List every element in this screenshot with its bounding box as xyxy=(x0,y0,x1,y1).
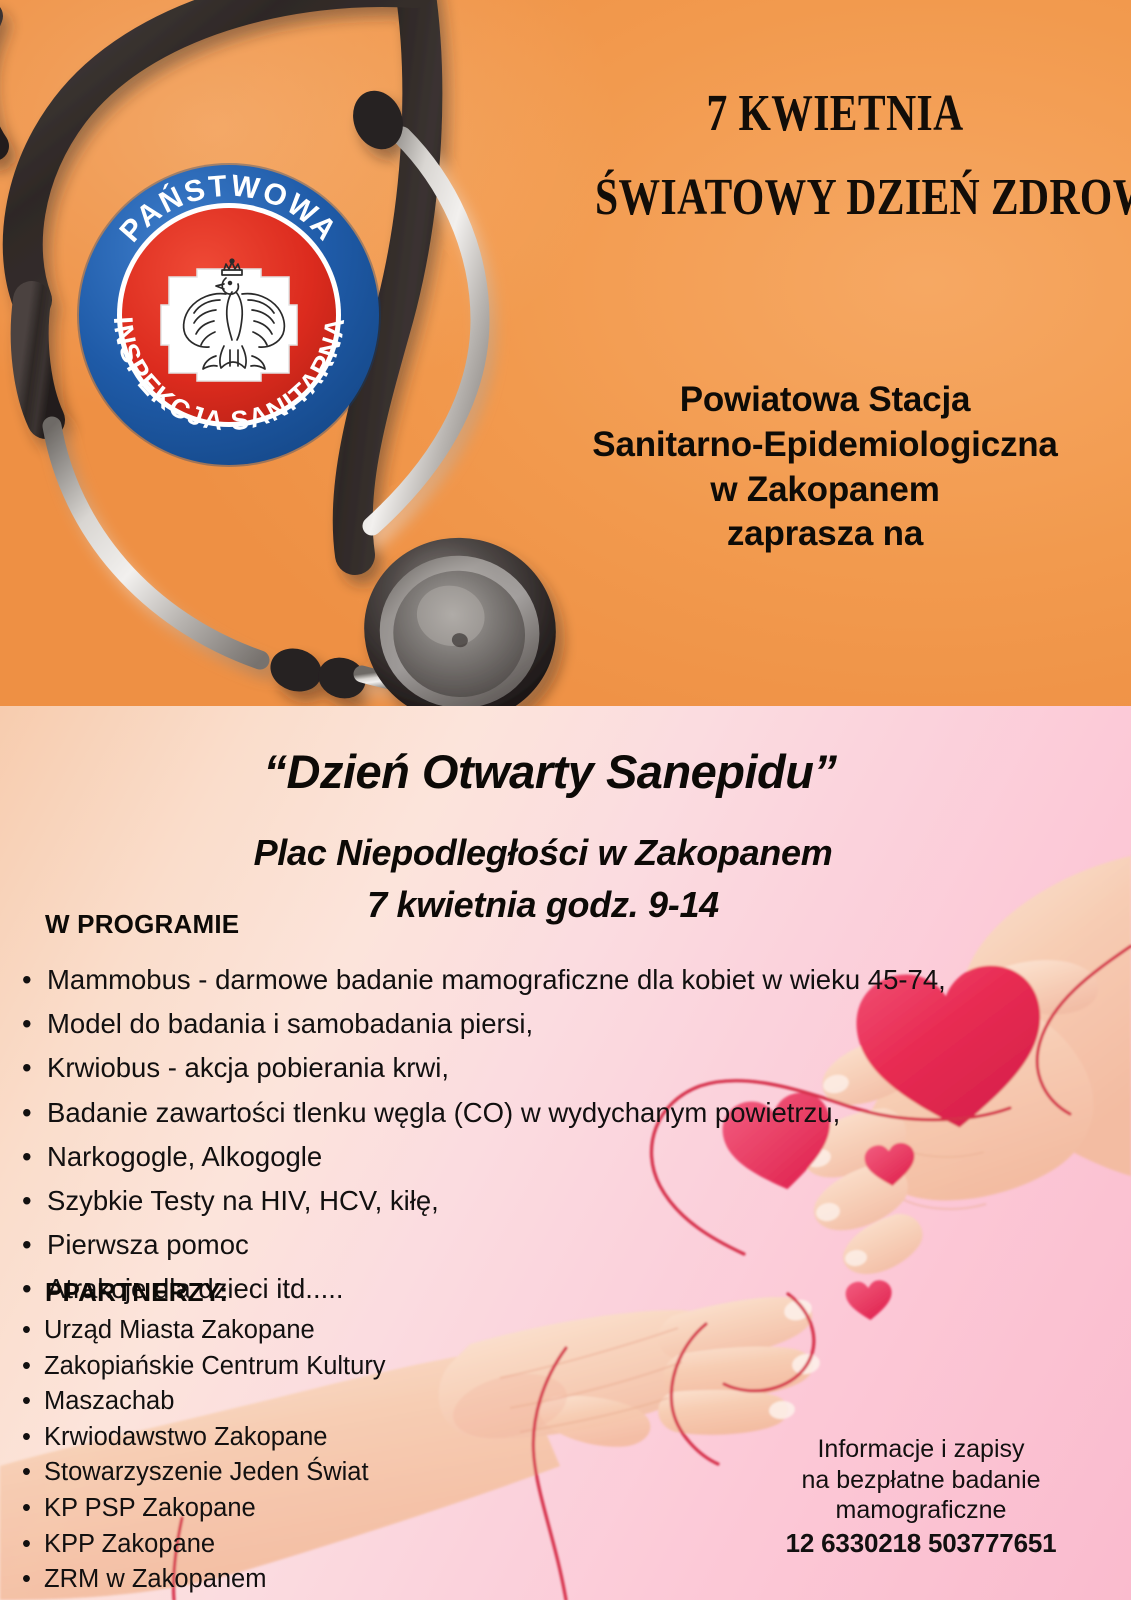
panstwowa-inspekcja-sanitarna-logo: PAŃSTWOWA INSPEKCJA SANITARNA xyxy=(74,160,384,470)
list-item: Krwiobus - akcja pobierania krwi, xyxy=(22,1046,946,1090)
list-item: Maszachab xyxy=(22,1384,386,1420)
list-item: Badanie zawartości tlenku węgla (CO) w w… xyxy=(22,1091,946,1135)
contact-line-1: Informacje i zapisy xyxy=(756,1434,1086,1465)
world-health-day-date: 7 KWIETNIA xyxy=(627,84,1043,143)
list-item: Model do badania i samobadania piersi, xyxy=(22,1002,946,1046)
list-item: Krwiodawstwo Zakopane xyxy=(22,1420,386,1456)
list-item: ZRM w Zakopanem xyxy=(22,1562,386,1598)
event-title: “Dzień Otwarty Sanepidu” xyxy=(0,744,1100,799)
contact-line-2: na bezpłatne badanie xyxy=(756,1465,1086,1496)
partners-list: Urząd Miasta Zakopane Zakopiańskie Centr… xyxy=(22,1313,386,1600)
list-item: Pierwsza pomoc xyxy=(22,1223,946,1267)
list-item: Mammobus - darmowe badanie mamograficzne… xyxy=(22,958,946,1002)
organizer-line-4: zaprasza na xyxy=(545,512,1105,557)
organizer-line-2: Sanitarno-Epidemiologiczna xyxy=(545,423,1105,468)
list-item: Stowarzyszenie Jeden Świat xyxy=(22,1455,386,1491)
list-item: Zakopiańskie Centrum Kultury xyxy=(22,1349,386,1385)
contact-phone-numbers: 12 6330218 503777651 xyxy=(756,1528,1086,1560)
event-place: Plac Niepodległości w Zakopanem xyxy=(0,832,1086,874)
partners-heading: PPARTNERZY: xyxy=(45,1277,228,1308)
list-item: Narkogogle, Alkogogle xyxy=(22,1135,946,1179)
list-item: Szybkie Testy na HIV, HCV, kiłę, xyxy=(22,1179,946,1223)
list-item: Urząd Miasta Zakopane xyxy=(22,1313,386,1349)
program-heading: W PROGRAMIE xyxy=(45,909,239,940)
organizer-block: Powiatowa Stacja Sanitarno-Epidemiologic… xyxy=(545,378,1105,557)
list-item: KPP Zakopane xyxy=(22,1527,386,1563)
program-list: Mammobus - darmowe badanie mamograficzne… xyxy=(22,958,946,1312)
organizer-line-3: w Zakopanem xyxy=(545,468,1105,513)
contact-block: Informacje i zapisy na bezpłatne badanie… xyxy=(756,1434,1086,1559)
poster: PAŃSTWOWA INSPEKCJA SANITARNA 7 KWIETNIA… xyxy=(0,0,1131,1600)
list-item: KP PSP Zakopane xyxy=(22,1491,386,1527)
top-orange-panel: PAŃSTWOWA INSPEKCJA SANITARNA 7 KWIETNIA… xyxy=(0,0,1131,706)
world-health-day-title: ŚWIATOWY DZIEŃ ZDROWIA xyxy=(595,168,1075,227)
contact-line-3: mamograficzne xyxy=(756,1495,1086,1526)
organizer-line-1: Powiatowa Stacja xyxy=(545,378,1105,423)
